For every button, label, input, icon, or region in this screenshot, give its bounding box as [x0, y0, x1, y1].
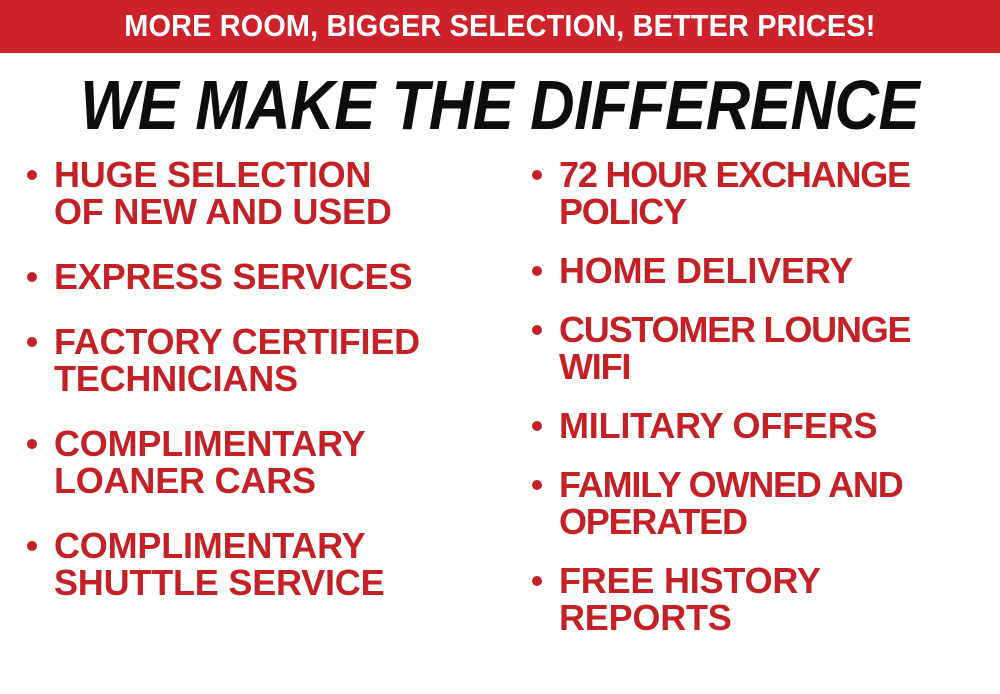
list-item: COMPLIMENTARY SHUTTLE SERVICE — [20, 527, 505, 601]
list-item: MILITARY OFFERS — [525, 407, 1000, 444]
headline-container: WE MAKE THE DIFFERENCE — [0, 53, 1000, 156]
bullet-dot-icon — [27, 439, 37, 449]
bullet-dot-icon — [27, 170, 37, 180]
bullet-dot-icon — [27, 541, 37, 551]
bullet-dot-icon — [532, 266, 542, 276]
bullet-dot-icon — [532, 480, 542, 490]
feature-label: 72 HOUR EXCHANGE POLICY — [559, 156, 1000, 230]
bullet-dot-icon — [532, 421, 542, 431]
feature-label: COMPLIMENTARY SHUTTLE SERVICE — [54, 527, 505, 601]
feature-label: HOME DELIVERY — [559, 252, 1000, 289]
page-title: WE MAKE THE DIFFERENCE — [80, 70, 919, 140]
feature-label: FREE HISTORY REPORTS — [559, 562, 1000, 636]
list-item: 72 HOUR EXCHANGE POLICY — [525, 156, 1000, 230]
promo-banner-text: MORE ROOM, BIGGER SELECTION, BETTER PRIC… — [124, 10, 875, 43]
bullet-dot-icon — [532, 576, 542, 586]
features-columns: HUGE SELECTION OF NEW AND USED EXPRESS S… — [0, 156, 1000, 636]
feature-label: FACTORY CERTIFIED TECHNICIANS — [54, 323, 505, 397]
promo-banner: MORE ROOM, BIGGER SELECTION, BETTER PRIC… — [0, 0, 1000, 53]
feature-label: EXPRESS SERVICES — [54, 258, 505, 295]
feature-label: COMPLIMENTARY LOANER CARS — [54, 425, 505, 499]
features-column-left: HUGE SELECTION OF NEW AND USED EXPRESS S… — [0, 156, 505, 601]
list-item: FACTORY CERTIFIED TECHNICIANS — [20, 323, 505, 397]
feature-label: MILITARY OFFERS — [559, 407, 1000, 444]
list-item: CUSTOMER LOUNGE WIFI — [525, 311, 1000, 385]
feature-label: CUSTOMER LOUNGE WIFI — [559, 311, 1000, 385]
features-column-right: 72 HOUR EXCHANGE POLICY HOME DELIVERY CU… — [505, 156, 1000, 636]
feature-list-right: 72 HOUR EXCHANGE POLICY HOME DELIVERY CU… — [525, 156, 1000, 636]
list-item: HOME DELIVERY — [525, 252, 1000, 289]
feature-label: HUGE SELECTION OF NEW AND USED — [54, 156, 505, 230]
list-item: COMPLIMENTARY LOANER CARS — [20, 425, 505, 499]
list-item: EXPRESS SERVICES — [20, 258, 505, 295]
bullet-dot-icon — [27, 272, 37, 282]
feature-label: FAMILY OWNED AND OPERATED — [559, 466, 1000, 540]
bullet-dot-icon — [27, 337, 37, 347]
bullet-dot-icon — [532, 325, 542, 335]
list-item: FREE HISTORY REPORTS — [525, 562, 1000, 636]
bullet-dot-icon — [532, 170, 542, 180]
list-item: FAMILY OWNED AND OPERATED — [525, 466, 1000, 540]
list-item: HUGE SELECTION OF NEW AND USED — [20, 156, 505, 230]
feature-list-left: HUGE SELECTION OF NEW AND USED EXPRESS S… — [20, 156, 505, 601]
